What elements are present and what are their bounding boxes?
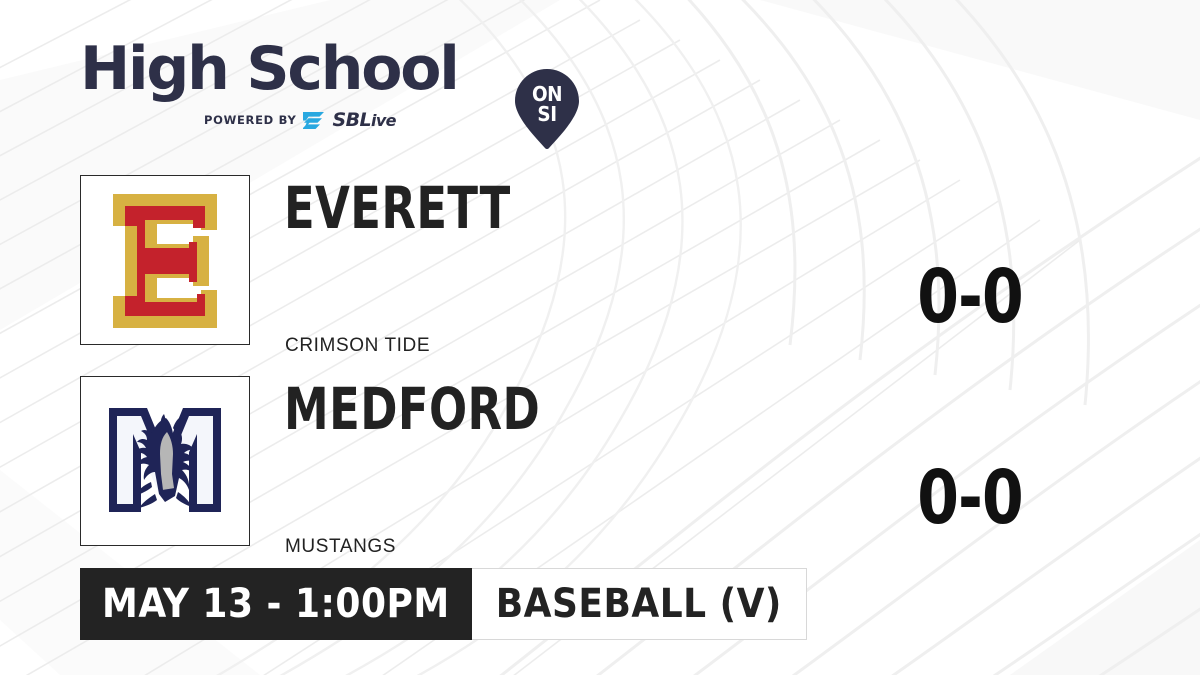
team-score: 0-0: [889, 461, 1051, 535]
everett-crimson-tide-logo: [105, 190, 225, 330]
team-score: 0-0: [889, 260, 1051, 334]
svg-text:SI: SI: [537, 102, 556, 126]
game-sport-badge: BASEBALL (V): [472, 568, 807, 640]
team-mascot: MUSTANGS: [285, 536, 396, 558]
everett-logo-box: [80, 175, 250, 345]
partner-wordmark-lower: ive: [371, 111, 396, 130]
sblive-bolt-icon: [303, 112, 325, 129]
game-info-bar: MAY 13 - 1:00PM BASEBALL (V): [80, 568, 807, 640]
brand-wordmark: High School: [80, 38, 510, 100]
partner-wordmark-upper: SBL: [332, 109, 370, 131]
powered-by-label: POWERED BY: [204, 113, 296, 127]
on-si-pin-icon: ON SI: [514, 68, 580, 150]
scoreboard-card: High School ON SI POWERED BY SBLive: [0, 0, 1200, 675]
medford-logo-box: [80, 376, 250, 546]
game-datetime-badge: MAY 13 - 1:00PM: [80, 568, 472, 640]
team-name: EVERETT: [284, 177, 511, 239]
team-mascot: CRIMSON TIDE: [285, 335, 430, 357]
team-name: MEDFORD: [284, 378, 540, 440]
partner-wordmark: SBLive: [332, 109, 395, 131]
powered-by-lockup: POWERED BY SBLive: [204, 110, 396, 130]
brand-lockup: High School ON SI POWERED BY SBLive: [80, 38, 510, 133]
medford-mustangs-logo: [103, 398, 227, 524]
